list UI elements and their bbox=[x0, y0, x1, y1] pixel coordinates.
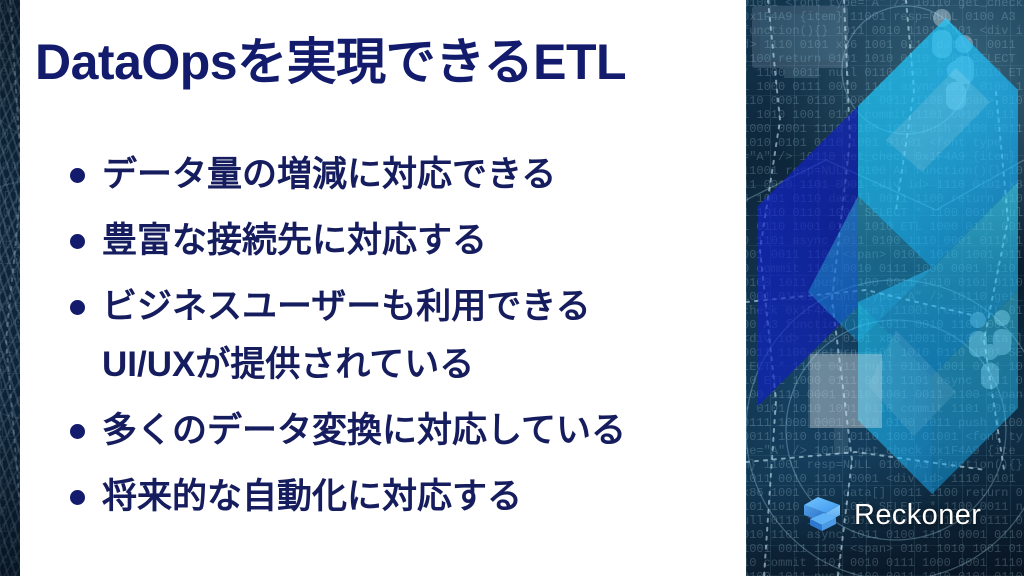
list-item: 豊富な接続先に対応する bbox=[58, 212, 738, 270]
reckoner-cube-logo-icon bbox=[802, 493, 842, 538]
bullet-list: データ量の増減に対応できる 豊富な接続先に対応する ビジネスユーザーも利用できる… bbox=[58, 146, 738, 534]
list-item: 将来的な自動化に対応する bbox=[58, 468, 738, 526]
brand-name: Reckoner bbox=[854, 499, 981, 532]
bullet-dot-icon bbox=[70, 424, 85, 439]
list-item-label: 多くのデータ変換に対応している bbox=[102, 411, 626, 450]
bullet-dot-icon bbox=[70, 234, 85, 249]
bullet-dot-icon bbox=[70, 490, 85, 505]
slide-root: 01001 <font type="A" /> 10110 get_check … bbox=[0, 0, 1024, 576]
bullet-dot-icon bbox=[70, 168, 85, 183]
reckoner-cube-watermark bbox=[758, 18, 1018, 494]
list-item-label: ビジネスユーザーも利用できる bbox=[102, 287, 591, 326]
list-item-label-continued: UI/UXが提供されている bbox=[102, 336, 738, 394]
page-title: DataOpsを実現できるETL bbox=[35, 22, 735, 94]
brand-image-column: 01001 <font type="A" /> 10110 get_check … bbox=[746, 0, 1024, 576]
list-item: データ量の増減に対応できる bbox=[58, 146, 738, 204]
content-panel: DataOpsを実現できるETL データ量の増減に対応できる 豊富な接続先に対応… bbox=[20, 0, 746, 576]
list-item-label: 豊富な接続先に対応する bbox=[102, 221, 487, 260]
brand-lockup: Reckoner bbox=[802, 493, 981, 538]
list-item-label: 将来的な自動化に対応する bbox=[102, 477, 522, 516]
bullet-dot-icon bbox=[70, 300, 85, 315]
list-item: ビジネスユーザーも利用できる UI/UXが提供されている bbox=[58, 278, 738, 394]
list-item-label: データ量の増減に対応できる bbox=[102, 155, 556, 194]
list-item: 多くのデータ変換に対応している bbox=[58, 402, 738, 460]
